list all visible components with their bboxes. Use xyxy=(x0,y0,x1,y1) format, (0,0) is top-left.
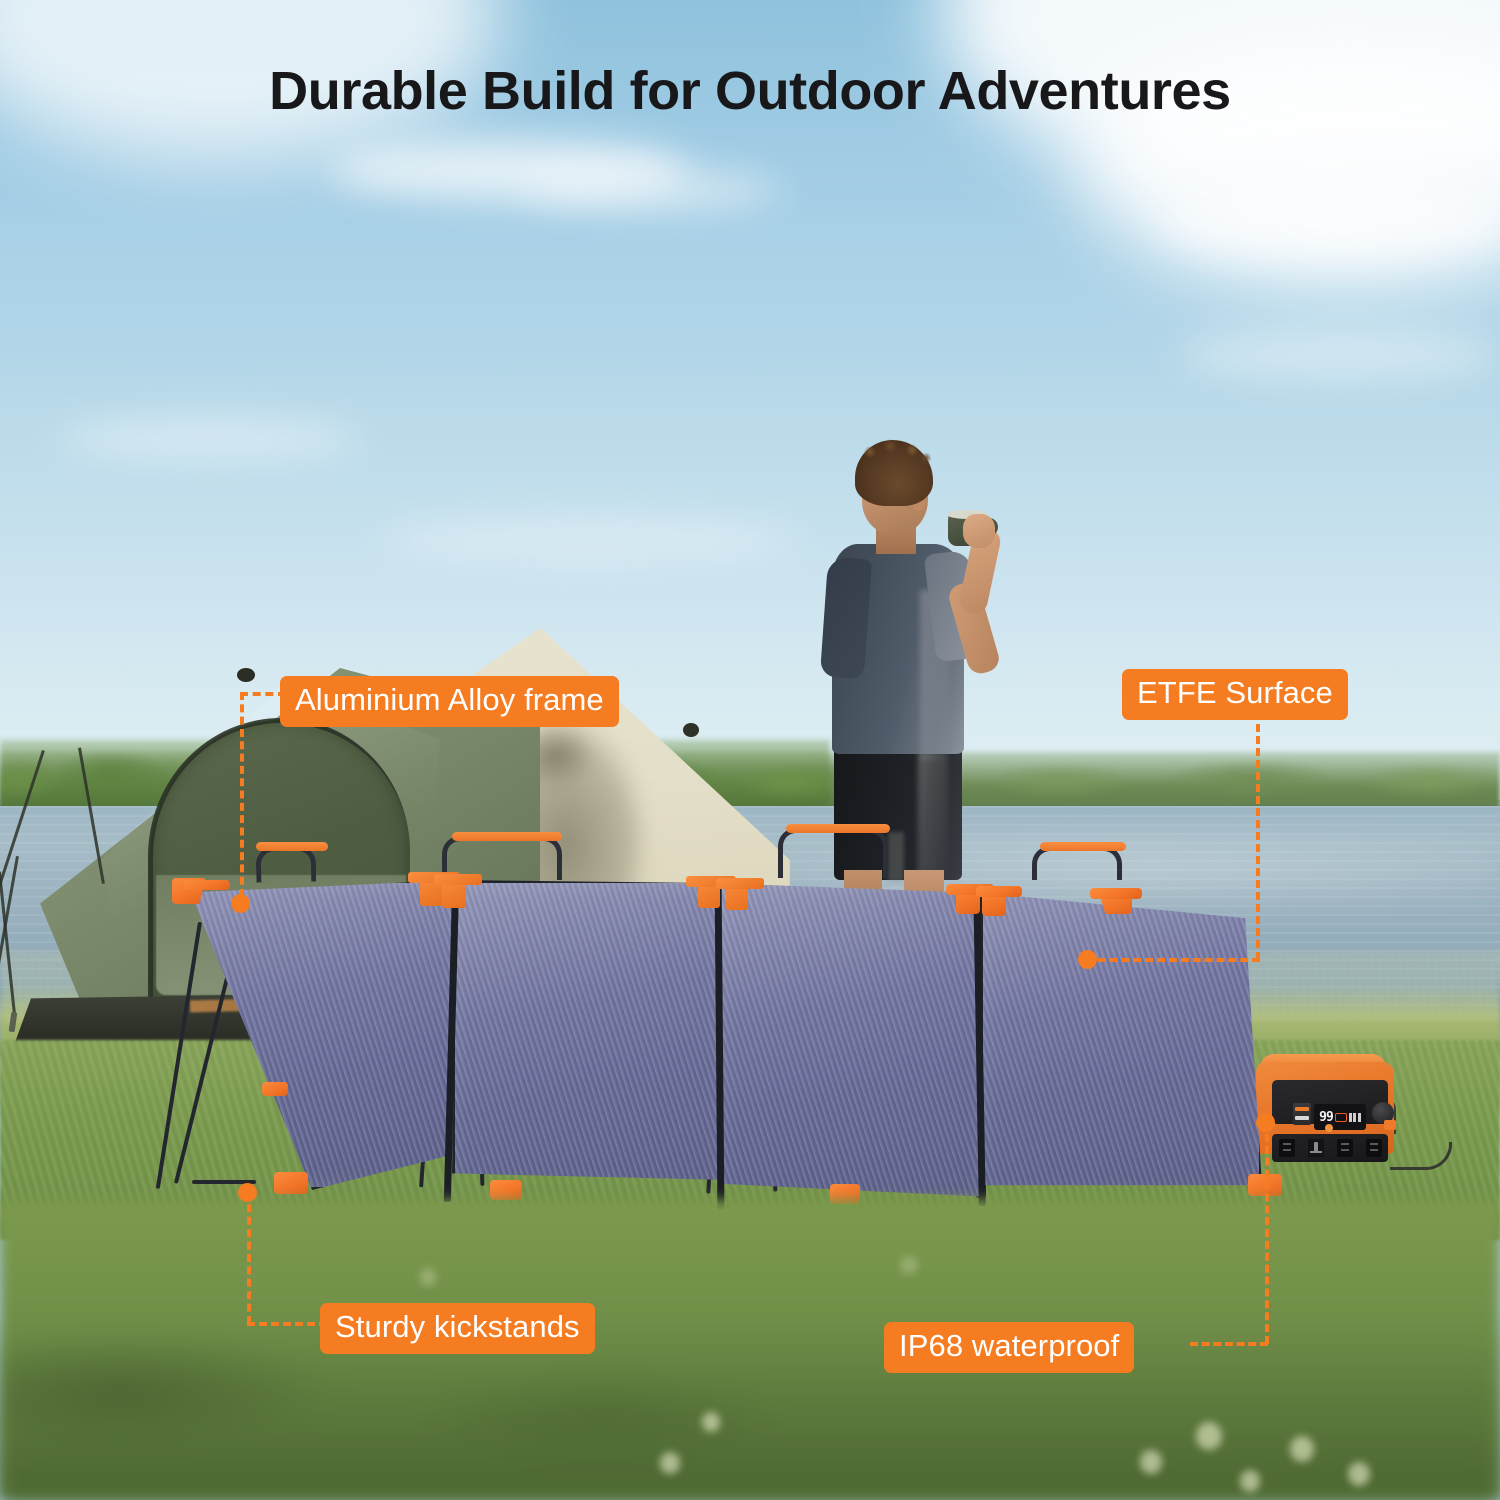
bokeh-highlight xyxy=(1240,1470,1260,1492)
panel-handle-grip[interactable] xyxy=(786,824,890,833)
cloud xyxy=(520,170,780,210)
leader-line-horizontal xyxy=(1086,958,1260,962)
cloud xyxy=(1180,330,1500,380)
leader-line-horizontal xyxy=(247,1322,327,1326)
leader-line-vertical xyxy=(240,692,244,897)
callout-dot-sturdy-kickstands xyxy=(238,1183,257,1202)
bokeh-highlight xyxy=(1348,1462,1370,1486)
bokeh-highlight xyxy=(702,1412,720,1432)
bokeh-highlight xyxy=(1196,1422,1222,1450)
cloud xyxy=(380,520,800,560)
outlet-aux[interactable] xyxy=(1366,1139,1382,1157)
solar-panel-segment xyxy=(452,880,724,1206)
side-port[interactable] xyxy=(1384,1120,1396,1130)
tent-side-clip xyxy=(683,723,699,737)
bokeh-highlight xyxy=(900,1256,918,1274)
panel-tee-bracket xyxy=(716,878,764,889)
callout-dot-ip68-waterproof xyxy=(1256,1113,1275,1132)
callout-label-aluminium-alloy-frame: Aluminium Alloy frame xyxy=(280,676,619,727)
power-station-display: 99 xyxy=(1314,1104,1366,1130)
outlet-ac[interactable] xyxy=(1308,1139,1324,1157)
battery-icon xyxy=(1335,1113,1347,1122)
callout-label-etfe-surface: ETFE Surface xyxy=(1122,669,1348,720)
callout-dot-etfe-surface xyxy=(1078,950,1097,969)
panel-handle-bar[interactable] xyxy=(1032,846,1122,880)
cloud xyxy=(1160,190,1500,260)
solar-panel-segment xyxy=(980,880,1262,1198)
panel-handle-bar[interactable] xyxy=(778,828,888,878)
person-sleeve-left xyxy=(820,557,872,680)
panel-corner-bracket xyxy=(184,880,230,890)
leader-line-vertical xyxy=(247,1192,251,1324)
foldable-solar-panel-array xyxy=(170,880,1300,1220)
callout-label-ip68-waterproof: IP68 waterproof xyxy=(884,1322,1134,1373)
power-indicator-led xyxy=(1325,1124,1333,1132)
person-shorts-highlight xyxy=(918,752,948,882)
battery-percentage: 99 xyxy=(1319,1111,1333,1124)
leader-line-vertical xyxy=(1256,712,1260,960)
person-shorts-split xyxy=(888,832,904,882)
leader-line-horizontal xyxy=(1190,1342,1268,1346)
bokeh-highlight xyxy=(1290,1436,1314,1462)
signal-bars-icon xyxy=(1349,1113,1361,1122)
cloud xyxy=(60,420,360,456)
panel-handle-grip[interactable] xyxy=(256,842,328,851)
foreground-grass-blur xyxy=(0,1330,1500,1500)
bokeh-highlight xyxy=(660,1452,680,1474)
panel-tee-bracket xyxy=(434,874,482,885)
bokeh-highlight xyxy=(1140,1450,1162,1474)
panel-handle-bar[interactable] xyxy=(256,845,317,882)
callout-label-sturdy-kickstands: Sturdy kickstands xyxy=(320,1303,595,1354)
scene-canvas: 99 xyxy=(0,0,1500,1500)
tent-peak-clip xyxy=(237,668,255,682)
callout-dot-aluminium-alloy-frame xyxy=(231,894,250,913)
panel-handle-grip[interactable] xyxy=(1040,842,1126,851)
person-hand xyxy=(963,514,995,548)
panel-corner-bracket xyxy=(1090,888,1142,899)
tent-guy-line xyxy=(0,750,45,894)
panel-corner-bracket xyxy=(976,886,1022,897)
leader-line-vertical xyxy=(1265,1122,1269,1344)
page-title: Durable Build for Outdoor Adventures xyxy=(0,62,1500,121)
bokeh-highlight xyxy=(420,1268,436,1286)
person-hair-curls xyxy=(858,438,932,472)
tent-stake xyxy=(9,1012,18,1033)
solar-panel-segment xyxy=(718,880,986,1210)
panel-corner-bracket xyxy=(490,1180,522,1200)
outlet-dc[interactable] xyxy=(1337,1139,1353,1157)
panel-handle-grip[interactable] xyxy=(452,832,562,841)
panel-corner-bracket xyxy=(262,1082,288,1096)
panel-corner-bracket xyxy=(274,1172,308,1194)
